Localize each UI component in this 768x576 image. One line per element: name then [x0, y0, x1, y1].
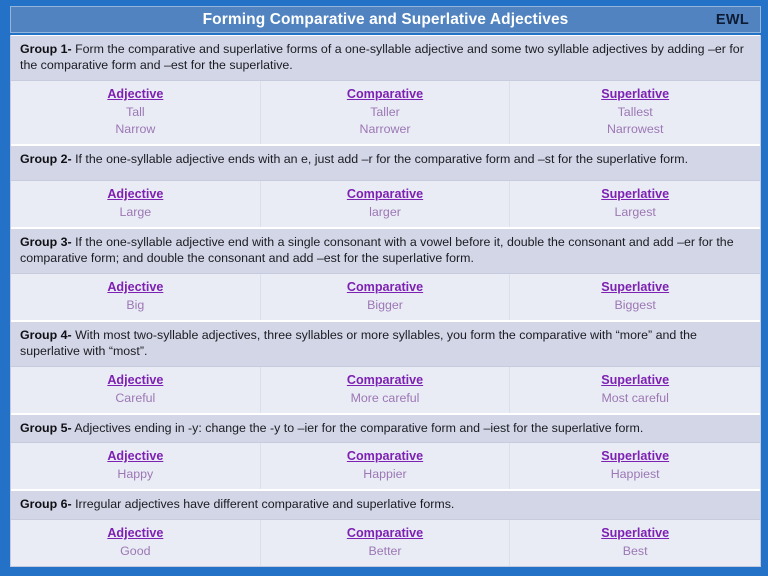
cell-value-adjective: Good — [15, 543, 256, 560]
table-row: AdjectiveBigComparativeBiggerSuperlative… — [11, 274, 760, 321]
cell-value-adjective: Narrow — [15, 121, 256, 138]
group-rule-text: Adjectives ending in -y: change the -y t… — [72, 421, 644, 435]
group-rule-text: If the one-syllable adjective ends with … — [72, 152, 688, 166]
group-description-row: Group 6- Irregular adjectives have diffe… — [11, 490, 760, 519]
cell-value-comparative: Better — [265, 543, 506, 560]
page-title: Forming Comparative and Superlative Adje… — [11, 12, 760, 28]
column-header-superlative: Superlative — [514, 372, 756, 389]
table-cell-comparative: ComparativeBigger — [261, 274, 511, 320]
group-description-row: Group 2- If the one-syllable adjective e… — [11, 145, 760, 181]
cell-value-superlative: Most careful — [514, 390, 756, 407]
cell-value-superlative: Largest — [514, 204, 756, 221]
group-block: Group 1- Form the comparative and superl… — [11, 35, 760, 145]
slide-header: Forming Comparative and Superlative Adje… — [10, 6, 761, 33]
cell-value-superlative: Narrowest — [514, 121, 756, 138]
group-label: Group 5- — [20, 421, 72, 435]
table-cell-adjective: AdjectiveHappy — [11, 443, 261, 489]
table-row: AdjectiveCarefulComparativeMore carefulS… — [11, 367, 760, 414]
table-cell-adjective: AdjectiveTallNarrow — [11, 81, 261, 144]
cell-value-superlative: Tallest — [514, 104, 756, 121]
group-rule-text: If the one-syllable adjective end with a… — [20, 235, 734, 265]
table-cell-comparative: ComparativeMore careful — [261, 367, 511, 413]
group-label: Group 3- — [20, 235, 72, 249]
slide-root: Forming Comparative and Superlative Adje… — [0, 0, 768, 576]
group-block: Group 3- If the one-syllable adjective e… — [11, 228, 760, 321]
column-header-comparative: Comparative — [265, 372, 506, 389]
cell-value-comparative: More careful — [265, 390, 506, 407]
column-header-superlative: Superlative — [514, 279, 756, 296]
cell-value-comparative: Taller — [265, 104, 506, 121]
group-label: Group 6- — [20, 497, 72, 511]
column-header-superlative: Superlative — [514, 86, 756, 103]
column-header-adjective: Adjective — [15, 448, 256, 465]
cell-value-adjective: Tall — [15, 104, 256, 121]
cell-value-adjective: Happy — [15, 466, 256, 483]
column-header-comparative: Comparative — [265, 279, 506, 296]
group-block: Group 5- Adjectives ending in -y: change… — [11, 414, 760, 490]
cell-value-comparative: Bigger — [265, 297, 506, 314]
group-label: Group 2- — [20, 152, 72, 166]
table-cell-superlative: SuperlativeBiggest — [510, 274, 760, 320]
adjective-forms-table: Group 1- Form the comparative and superl… — [10, 35, 761, 567]
group-block: Group 6- Irregular adjectives have diffe… — [11, 490, 760, 566]
column-header-adjective: Adjective — [15, 372, 256, 389]
table-cell-superlative: SuperlativeTallestNarrowest — [510, 81, 760, 144]
column-header-adjective: Adjective — [15, 525, 256, 542]
column-header-adjective: Adjective — [15, 279, 256, 296]
group-description-row: Group 5- Adjectives ending in -y: change… — [11, 414, 760, 443]
group-label: Group 1- — [20, 42, 72, 56]
table-cell-adjective: AdjectiveBig — [11, 274, 261, 320]
column-header-superlative: Superlative — [514, 448, 756, 465]
cell-value-adjective: Careful — [15, 390, 256, 407]
table-cell-comparative: ComparativeHappier — [261, 443, 511, 489]
column-header-comparative: Comparative — [265, 186, 506, 203]
column-header-comparative: Comparative — [265, 448, 506, 465]
cell-value-comparative: larger — [265, 204, 506, 221]
cell-value-comparative: Narrower — [265, 121, 506, 138]
table-row: AdjectiveTallNarrowComparativeTallerNarr… — [11, 81, 760, 145]
group-rule-text: With most two-syllable adjectives, three… — [20, 328, 697, 358]
table-cell-comparative: Comparativelarger — [261, 181, 511, 227]
group-block: Group 2- If the one-syllable adjective e… — [11, 145, 760, 228]
table-cell-superlative: SuperlativeMost careful — [510, 367, 760, 413]
table-row: AdjectiveGoodComparativeBetterSuperlativ… — [11, 520, 760, 567]
group-label: Group 4- — [20, 328, 72, 342]
cell-value-superlative: Happiest — [514, 466, 756, 483]
column-header-comparative: Comparative — [265, 525, 506, 542]
table-cell-adjective: AdjectiveLarge — [11, 181, 261, 227]
group-rule-text: Form the comparative and superlative for… — [20, 42, 744, 72]
table-cell-comparative: ComparativeBetter — [261, 520, 511, 566]
column-header-superlative: Superlative — [514, 525, 756, 542]
group-block: Group 4- With most two-syllable adjectiv… — [11, 321, 760, 414]
group-description-row: Group 3- If the one-syllable adjective e… — [11, 228, 760, 274]
cell-value-adjective: Big — [15, 297, 256, 314]
column-header-adjective: Adjective — [15, 186, 256, 203]
table-cell-superlative: SuperlativeHappiest — [510, 443, 760, 489]
table-cell-adjective: AdjectiveGood — [11, 520, 261, 566]
table-cell-adjective: AdjectiveCareful — [11, 367, 261, 413]
table-cell-comparative: ComparativeTallerNarrower — [261, 81, 511, 144]
table-row: AdjectiveHappyComparativeHappierSuperlat… — [11, 443, 760, 490]
table-cell-superlative: SuperlativeBest — [510, 520, 760, 566]
cell-value-superlative: Biggest — [514, 297, 756, 314]
group-description-row: Group 4- With most two-syllable adjectiv… — [11, 321, 760, 367]
column-header-comparative: Comparative — [265, 86, 506, 103]
column-header-superlative: Superlative — [514, 186, 756, 203]
group-description-row: Group 1- Form the comparative and superl… — [11, 35, 760, 81]
table-row: AdjectiveLargeComparativelargerSuperlati… — [11, 181, 760, 228]
brand-label: EWL — [716, 12, 749, 28]
column-header-adjective: Adjective — [15, 86, 256, 103]
cell-value-superlative: Best — [514, 543, 756, 560]
cell-value-adjective: Large — [15, 204, 256, 221]
group-rule-text: Irregular adjectives have different comp… — [72, 497, 455, 511]
cell-value-comparative: Happier — [265, 466, 506, 483]
table-cell-superlative: SuperlativeLargest — [510, 181, 760, 227]
